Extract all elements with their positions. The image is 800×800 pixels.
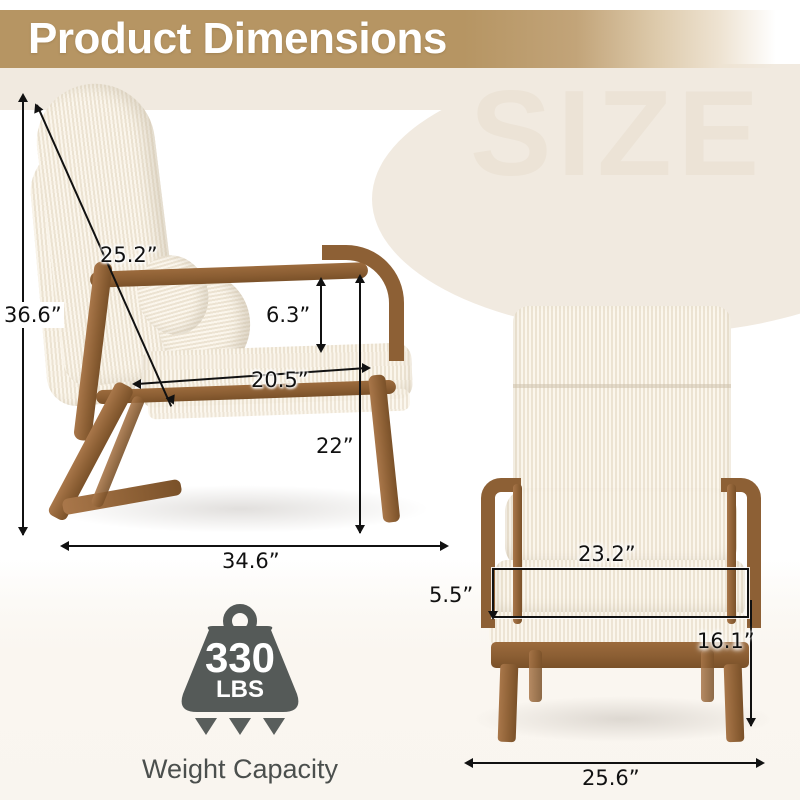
front-chair-front-left-leg [498, 664, 519, 743]
dim-line-overall-width [470, 762, 760, 764]
weight-arrows-group [175, 718, 305, 742]
dim-label-armrest-to-seat: 6.3” [266, 303, 310, 327]
dim-line-armrest-to-seat [320, 282, 322, 350]
dim-label-cushion-thickness: 5.5” [429, 583, 473, 607]
dim-arrow-overall-width-left [464, 758, 473, 768]
dim-arrow-seat-depth-right [362, 363, 371, 373]
front-chair-backrest [513, 306, 731, 506]
weight-value: 330 [175, 634, 305, 682]
dim-label-overall-height: 36.6” [2, 302, 64, 328]
dim-arrow-arm-height-bottom [355, 525, 365, 534]
weight-capacity-caption: Weight Capacity [120, 754, 360, 785]
product-dimensions-infographic: SIZE Product Dimensions [0, 0, 800, 800]
weight-arrow-down-icon-3 [263, 718, 285, 735]
dim-arrow-overall-height-bottom [18, 527, 28, 536]
page-title: Product Dimensions [28, 14, 447, 64]
dim-arrow-overall-width-right [756, 758, 765, 768]
dim-arrow-armrest-to-seat-bottom [316, 344, 326, 353]
size-watermark-text: SIZE [470, 72, 765, 194]
dim-line-overall-depth [66, 545, 444, 547]
dim-arrow-overall-depth-left [60, 541, 69, 551]
front-chair-rear-left-leg [529, 650, 542, 702]
dim-arrow-overall-height-top [18, 93, 28, 102]
dim-line-seat-height [750, 600, 752, 726]
weight-capacity-badge: 330 LBS Weight Capacity [120, 604, 360, 785]
dim-label-seat-depth: 20.5” [251, 368, 309, 392]
dim-arrow-seat-height-bottom [746, 718, 756, 727]
dim-label-overall-depth: 34.6” [222, 549, 280, 573]
dim-label-backrest-height: 25.2” [100, 243, 158, 267]
weight-icon: 330 LBS [175, 604, 305, 712]
dim-arrow-cushion-thickness [488, 611, 498, 620]
dim-box-seat-cushion [492, 568, 749, 618]
dim-arrow-overall-depth-right [440, 541, 449, 551]
front-chair-front-right-leg [724, 664, 745, 743]
front-chair-backrest-seam [513, 384, 731, 388]
weight-arrow-down-icon-1 [195, 718, 217, 735]
side-view-chair-image [30, 85, 450, 545]
weight-arrow-down-icon-2 [229, 718, 251, 735]
dim-arrow-seat-depth-left [132, 379, 141, 389]
dim-line-arm-height [359, 278, 361, 533]
dim-label-seat-height: 16.1” [697, 629, 755, 653]
dim-label-seat-width: 23.2” [578, 542, 636, 566]
front-view-chair-image [455, 298, 785, 750]
dim-label-overall-width: 25.6” [582, 766, 640, 790]
dim-arrow-armrest-to-seat-top [316, 277, 326, 286]
front-chair-rear-right-leg [701, 650, 714, 702]
side-chair-armrest-front-curve [322, 245, 404, 361]
weight-unit: LBS [175, 676, 305, 704]
dim-label-arm-height: 22” [316, 434, 354, 458]
dim-arrow-arm-height-top [355, 274, 365, 283]
